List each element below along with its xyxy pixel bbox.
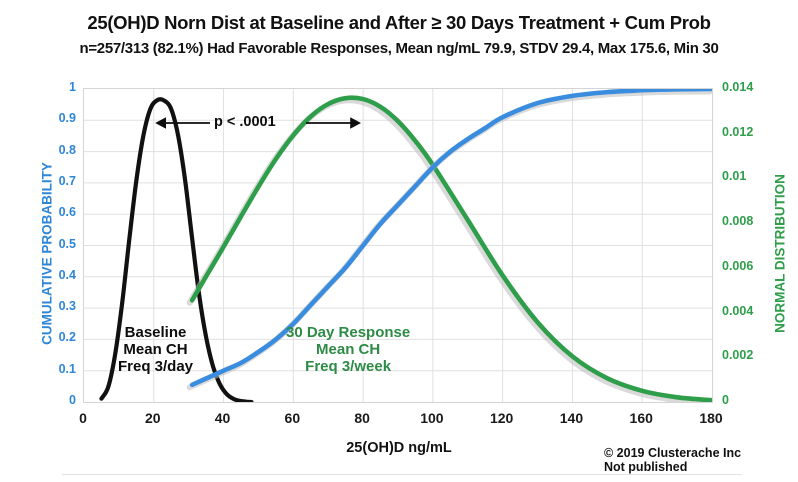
y-tick-left: 1 [30, 80, 76, 94]
y-tick-left: 0.4 [30, 268, 76, 282]
y-tick-left: 0 [30, 393, 76, 407]
y-tick-right: 0.008 [722, 214, 782, 228]
y-tick-left: 0.6 [30, 205, 76, 219]
response-annotation-line-1: 30 Day Response [286, 325, 410, 342]
response-annotation-line-3: Freq 3/week [286, 359, 410, 376]
copyright-line-2: Not published [604, 460, 741, 474]
baseline-annotation-line-3: Freq 3/day [118, 359, 193, 376]
x-tick: 60 [262, 410, 322, 426]
chart-page: 25(OH)D Norn Dist at Baseline and After … [0, 0, 798, 482]
response-annotation-line-2: Mean CH [286, 342, 410, 359]
y-axis-title-right: NORMAL DISTRIBUTION [773, 129, 788, 379]
y-tick-right: 0.004 [722, 304, 782, 318]
x-tick: 100 [402, 410, 462, 426]
y-tick-left: 0.9 [30, 111, 76, 125]
y-tick-left: 0.7 [30, 174, 76, 188]
p-value-arrows [140, 110, 380, 140]
y-tick-left: 0.1 [30, 362, 76, 376]
x-tick: 140 [541, 410, 601, 426]
y-tick-left: 0.2 [30, 330, 76, 344]
y-tick-right: 0.014 [722, 80, 782, 94]
x-tick: 20 [123, 410, 183, 426]
x-tick: 80 [332, 410, 392, 426]
y-tick-left: 0.5 [30, 237, 76, 251]
baseline-annotation-line-2: Mean CH [118, 342, 193, 359]
baseline-annotation-line-1: Baseline [118, 325, 193, 342]
x-tick: 120 [472, 410, 532, 426]
y-tick-right: 0.002 [722, 348, 782, 362]
series-shadow [190, 100, 710, 402]
x-tick: 40 [193, 410, 253, 426]
y-tick-right: 0.012 [722, 125, 782, 139]
x-tick: 0 [53, 410, 113, 426]
y-tick-right: 0.01 [722, 169, 782, 183]
chart-title: 25(OH)D Norn Dist at Baseline and After … [0, 12, 798, 34]
x-tick: 160 [611, 410, 671, 426]
copyright-notice: © 2019 Clusterache Inc Not published [604, 446, 741, 474]
y-tick-left: 0.8 [30, 143, 76, 157]
bottom-divider [62, 474, 742, 475]
baseline-annotation: Baseline Mean CH Freq 3/day [118, 325, 193, 375]
series-line-1 [192, 98, 712, 401]
response-annotation: 30 Day Response Mean CH Freq 3/week [286, 325, 410, 375]
y-tick-left: 0.3 [30, 299, 76, 313]
copyright-line-1: © 2019 Clusterache Inc [604, 446, 741, 460]
x-tick: 180 [681, 410, 741, 426]
y-tick-right: 0.006 [722, 259, 782, 273]
y-tick-right: 0 [722, 393, 782, 407]
chart-subtitle: n=257/313 (82.1%) Had Favorable Response… [0, 40, 798, 57]
